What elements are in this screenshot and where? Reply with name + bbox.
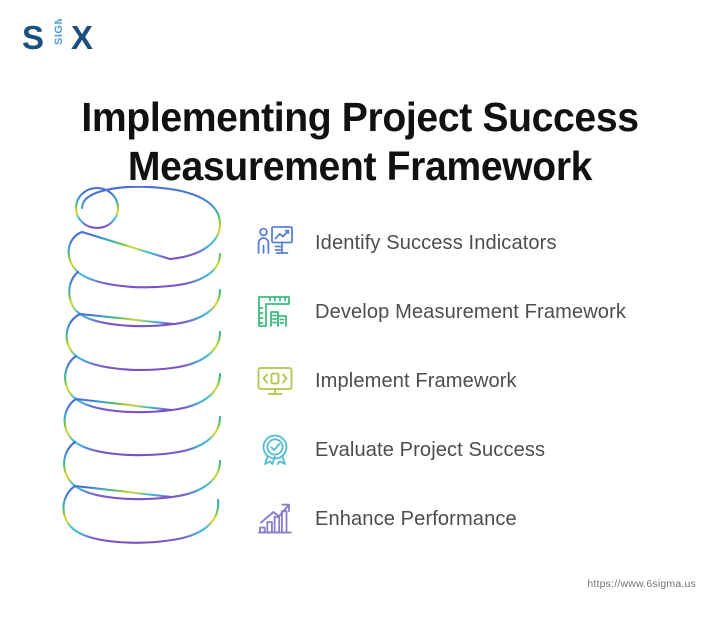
step-item-implement-framework[interactable]: Implement Framework [253, 346, 693, 415]
logo-word-sigma: SIGMA [53, 19, 65, 45]
page-title-line-1: Implementing Project Success [16, 93, 704, 141]
brand-logo[interactable]: S X SIGMA [22, 20, 96, 56]
step-item-develop-measurement-framework[interactable]: Develop Measurement Framework [253, 277, 693, 346]
growth-bar-chart-arrow-icon [253, 497, 297, 541]
step-label: Enhance Performance [315, 507, 517, 531]
step-item-identify-success-indicators[interactable]: Identify Success Indicators [253, 208, 693, 277]
award-badge-check-icon [253, 428, 297, 472]
ruler-measurement-icon [253, 290, 297, 334]
step-item-evaluate-project-success[interactable]: Evaluate Project Success [253, 415, 693, 484]
monitor-code-brackets-icon [253, 359, 297, 403]
step-label: Implement Framework [315, 369, 517, 393]
gradient-spiral-coil-graphic [52, 186, 242, 554]
logo-letter-x: X [71, 19, 93, 56]
step-label: Develop Measurement Framework [315, 300, 626, 324]
step-item-enhance-performance[interactable]: Enhance Performance [253, 484, 693, 553]
step-label: Evaluate Project Success [315, 438, 545, 462]
logo-letter-s: S [22, 19, 44, 56]
steps-list: Identify Success Indicators Develop Meas… [253, 208, 693, 553]
page-title-line-2: Measurement Framework [16, 142, 704, 190]
six-sigma-logo-icon: S X SIGMA [22, 19, 96, 57]
page-title: Implementing Project Success Measurement… [16, 93, 704, 190]
step-label: Identify Success Indicators [315, 231, 557, 255]
spiral-coil-icon [52, 186, 242, 554]
footer-url[interactable]: https://www.6sigma.us [587, 578, 696, 590]
person-presentation-chart-icon [253, 221, 297, 265]
